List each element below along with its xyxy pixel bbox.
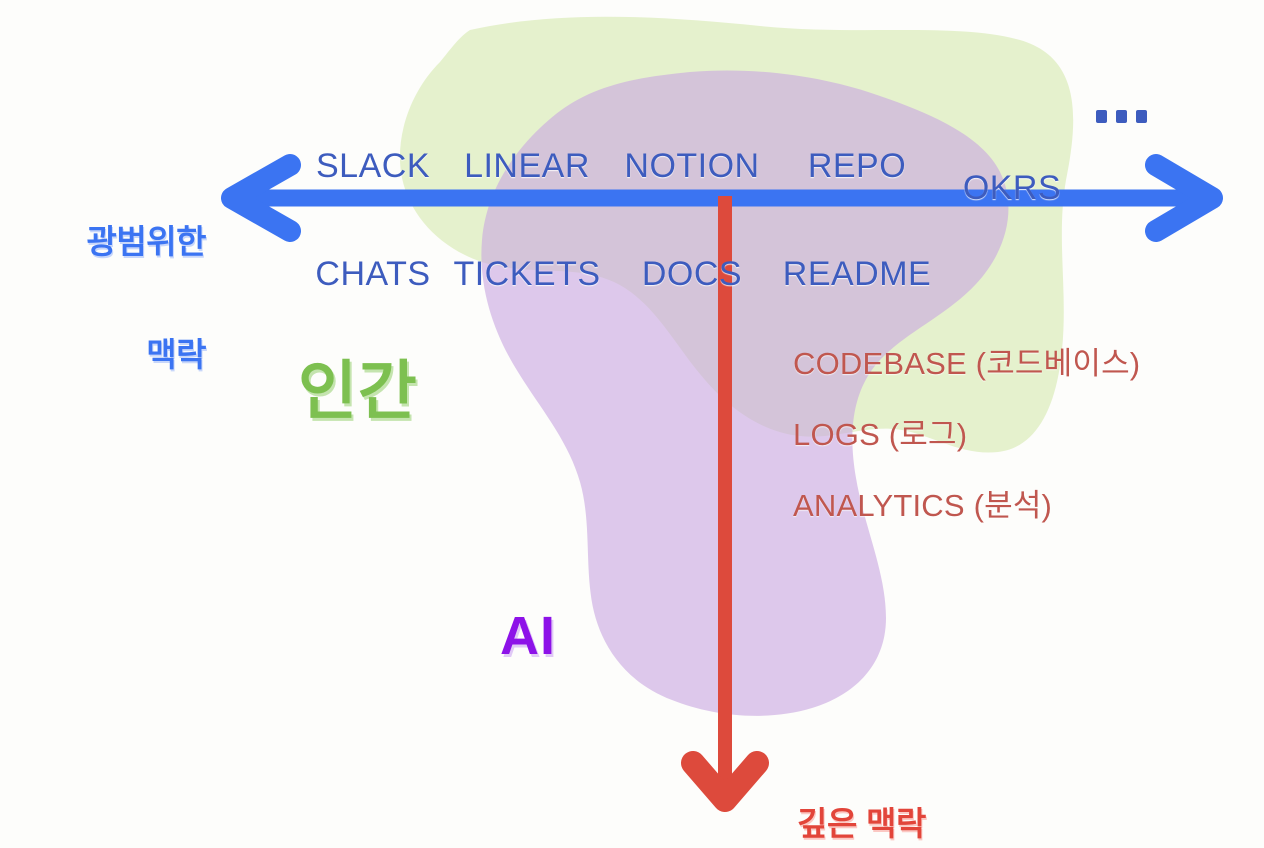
deep-context-label: 깊은 맥락 CONTEXT	[797, 732, 968, 848]
ai-region-label: AI	[500, 608, 556, 665]
broad-context-label: 광범위한 맥락	[0, 148, 206, 449]
source-label-line1: REPO	[780, 148, 934, 184]
deep-context-label-korean: 깊은 맥락	[797, 806, 968, 843]
source-label-line1: LINEAR	[452, 148, 602, 184]
source-label-line2: CHATS	[310, 256, 436, 292]
source-label-okrs: OKRS	[962, 98, 1062, 278]
source-label-line1: NOTION	[622, 148, 762, 184]
deep-context-item-analytics: ANALYTICS (분석)	[793, 490, 1052, 523]
deep-context-item-codebase: CODEBASE (코드베이스)	[793, 348, 1140, 381]
source-label-line2: README	[780, 256, 934, 292]
source-label-linear: LINEAR TICKETS	[452, 76, 602, 364]
broad-context-label-line2: 맥락	[0, 336, 206, 374]
source-label-line2: TICKETS	[452, 256, 602, 292]
source-label-ellipsis-icon	[1096, 110, 1147, 123]
broad-context-label-line1: 광범위한	[0, 223, 206, 261]
source-label-slack: SLACK CHATS	[310, 76, 436, 364]
source-label-repo: REPO README	[780, 76, 934, 364]
source-label-line1: OKRS	[962, 170, 1062, 206]
diagram-canvas: SLACK CHATS LINEAR TICKETS NOTION DOCS R…	[0, 0, 1264, 848]
source-label-line2: DOCS	[622, 256, 762, 292]
source-label-line1: SLACK	[310, 148, 436, 184]
deep-context-item-logs: LOGS (로그)	[793, 419, 967, 452]
source-label-notion: NOTION DOCS	[622, 76, 762, 364]
human-region-label: 인간	[298, 358, 418, 426]
